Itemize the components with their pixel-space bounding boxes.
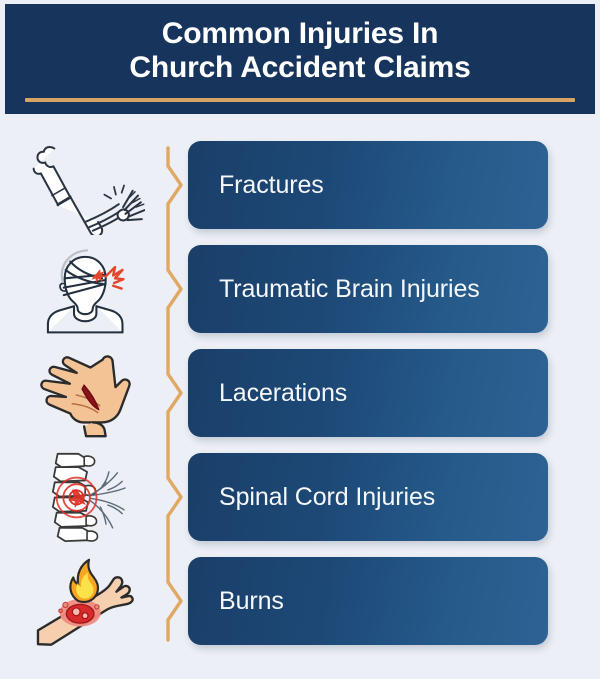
injury-bar[interactable]: Lacerations (188, 349, 548, 437)
burned-arm-icon (28, 549, 148, 653)
injury-list: Fractures (0, 0, 600, 679)
list-item[interactable]: Burns (0, 549, 600, 653)
infographic-root: Common Injuries In Church Accident Claim… (0, 0, 600, 679)
injury-bar[interactable]: Burns (188, 557, 548, 645)
list-item[interactable]: Traumatic Brain Injuries (0, 237, 600, 341)
bandaged-head-icon (28, 237, 148, 341)
injury-bar[interactable]: Fractures (188, 141, 548, 229)
list-item[interactable]: Fractures (0, 133, 600, 237)
cut-hand-icon (28, 341, 148, 445)
injured-spine-icon (28, 445, 148, 549)
injury-label: Spinal Cord Injuries (188, 485, 435, 510)
injury-bar[interactable]: Traumatic Brain Injuries (188, 245, 548, 333)
injury-label: Traumatic Brain Injuries (188, 277, 480, 302)
list-item[interactable]: Lacerations (0, 341, 600, 445)
list-item[interactable]: Spinal Cord Injuries (0, 445, 600, 549)
broken-arm-bone-icon (28, 133, 148, 237)
injury-bar[interactable]: Spinal Cord Injuries (188, 453, 548, 541)
injury-label: Lacerations (188, 381, 347, 406)
injury-label: Burns (188, 589, 284, 614)
injury-label: Fractures (188, 173, 324, 198)
